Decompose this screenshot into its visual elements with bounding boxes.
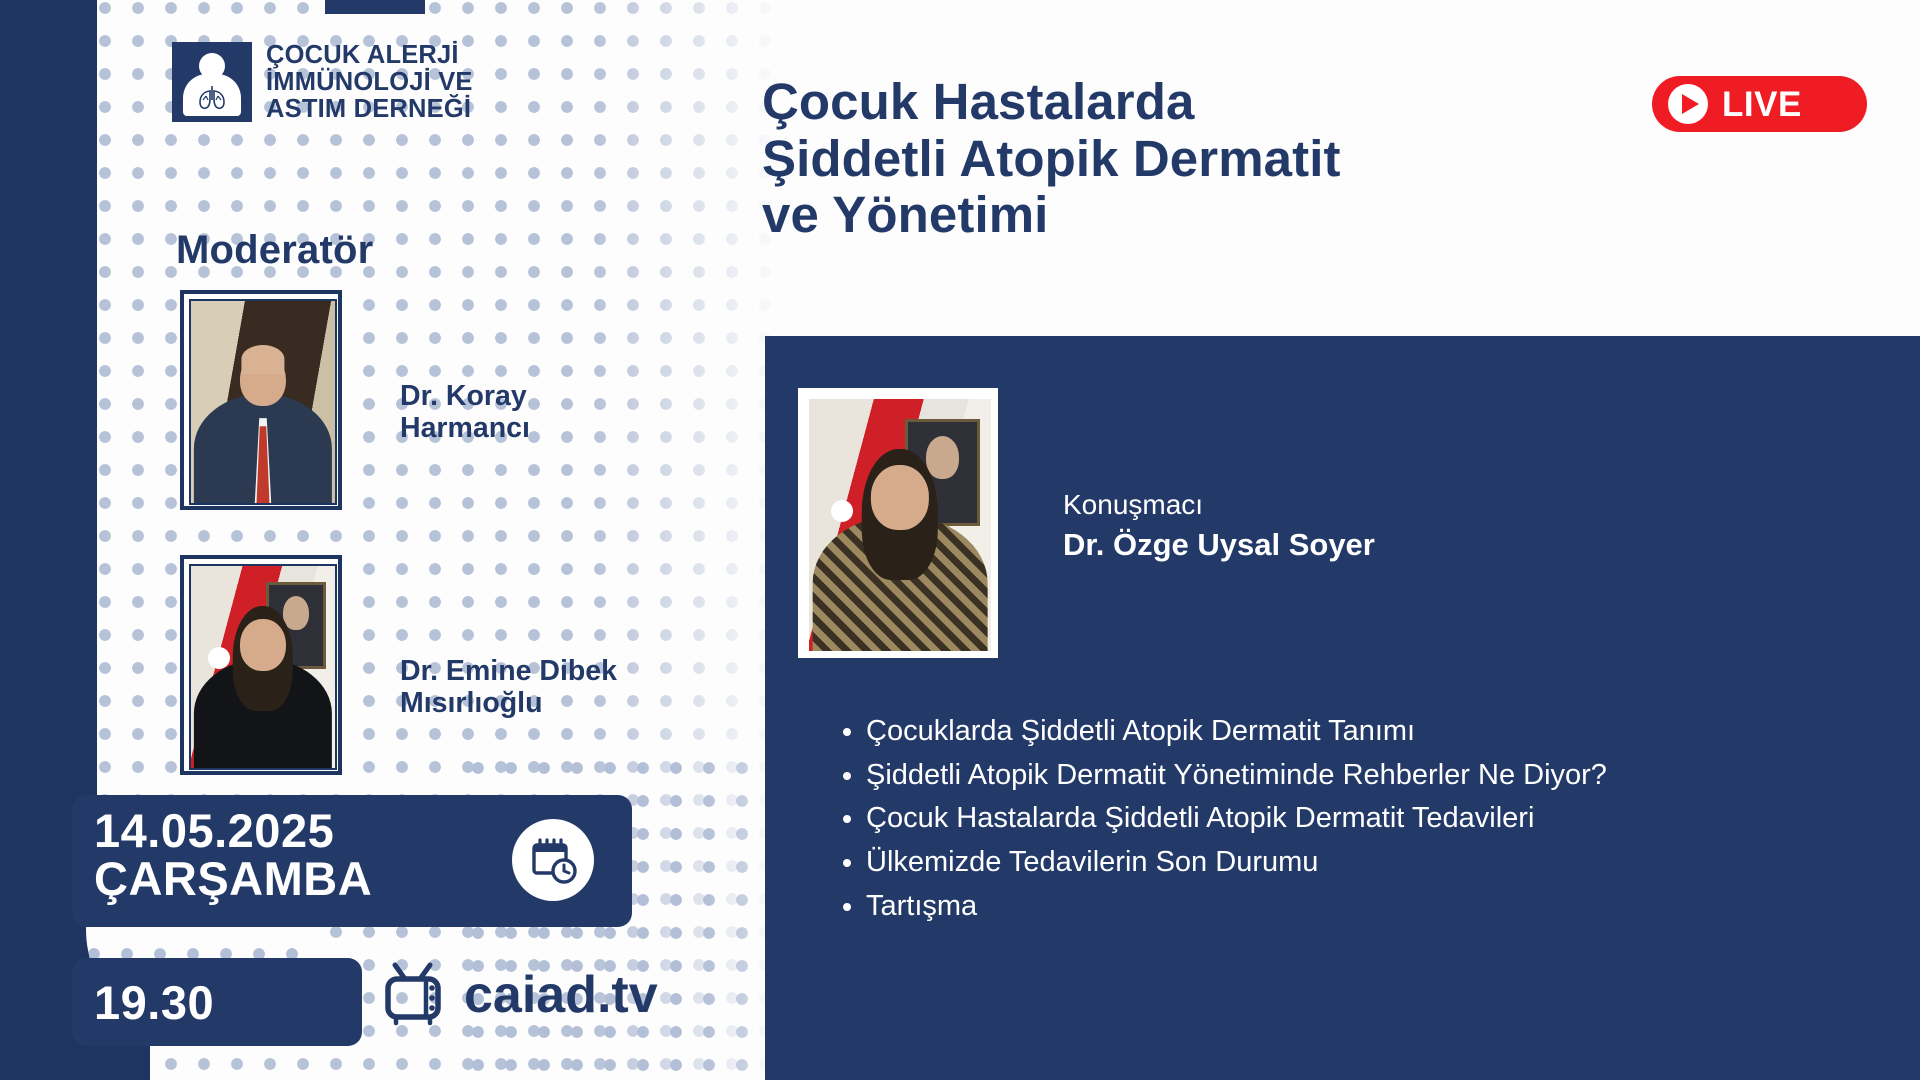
live-badge[interactable]: LIVE <box>1652 76 1867 132</box>
page-title: Çocuk Hastalarda Şiddetli Atopik Dermati… <box>762 74 1602 244</box>
title-line-3: ve Yönetimi <box>762 187 1602 244</box>
speaker-photo <box>798 388 998 658</box>
agenda-item: Çocuk Hastalarda Şiddetli Atopik Dermati… <box>866 799 1848 839</box>
agenda-item: Ülkemizde Tedavilerin Son Durumu <box>866 843 1848 883</box>
agenda-item: Şiddetli Atopik Dermatit Yönetiminde Reh… <box>866 756 1848 796</box>
agenda-list: Çocuklarda Şiddetli Atopik Dermatit Tanı… <box>828 712 1848 931</box>
agenda-item: Tartışma <box>866 887 1848 927</box>
speaker-role-label: Konuşmacı <box>1063 488 1375 522</box>
child-lungs-icon <box>172 42 252 122</box>
event-date: 14.05.2025 <box>94 805 334 858</box>
event-weekday: ÇARŞAMBA <box>94 853 372 906</box>
moderator-name-2: Dr. Emine Dibek Mısırlıoğlu <box>400 655 720 720</box>
date-badge: 14.05.2025 ÇARŞAMBA <box>72 795 632 927</box>
moderator-photo-1 <box>180 290 342 510</box>
moderator-name-2-line1: Dr. Emine Dibek <box>400 655 720 687</box>
moderator-name-1: Dr. Koray Harmancı <box>400 380 700 445</box>
moderator-label: Moderatör <box>176 228 373 273</box>
tv-icon <box>382 958 456 1032</box>
moderator-photo-2 <box>180 555 342 775</box>
moderator-name-2-line2: Mısırlıoğlu <box>400 687 720 719</box>
speaker-name: Dr. Özge Uysal Soyer <box>1063 526 1375 565</box>
time-badge: 19.30 <box>72 958 362 1046</box>
poster-canvas: ÇOCUK ALERJİ İMMÜNOLOJİ VE ASTIM DERNEĞİ… <box>0 0 1920 1080</box>
site-link[interactable]: caiad.tv <box>382 958 658 1032</box>
title-line-2: Şiddetli Atopik Dermatit <box>762 131 1602 188</box>
live-badge-label: LIVE <box>1722 87 1802 122</box>
org-line-1: ÇOCUK ALERJİ <box>266 42 473 69</box>
lungs-glyph <box>195 84 229 111</box>
calendar-clock-glyph <box>527 834 579 886</box>
title-line-1: Çocuk Hastalarda <box>762 74 1602 131</box>
calendar-clock-icon <box>512 819 594 901</box>
site-name: caiad.tv <box>464 969 658 1021</box>
moderator-name-1-line2: Harmancı <box>400 412 700 444</box>
org-line-3: ASTIM DERNEĞİ <box>266 96 473 123</box>
speaker-info: Konuşmacı Dr. Özge Uysal Soyer <box>1063 488 1375 564</box>
org-line-2: İMMÜNOLOJİ VE <box>266 69 473 96</box>
top-navy-tab <box>325 0 425 14</box>
organization-logo: ÇOCUK ALERJİ İMMÜNOLOJİ VE ASTIM DERNEĞİ <box>172 42 473 123</box>
moderator-name-1-line1: Dr. Koray <box>400 380 700 412</box>
play-icon <box>1668 84 1708 124</box>
event-time: 19.30 <box>72 975 214 1030</box>
organization-name: ÇOCUK ALERJİ İMMÜNOLOJİ VE ASTIM DERNEĞİ <box>266 42 473 123</box>
agenda-item: Çocuklarda Şiddetli Atopik Dermatit Tanı… <box>866 712 1848 752</box>
